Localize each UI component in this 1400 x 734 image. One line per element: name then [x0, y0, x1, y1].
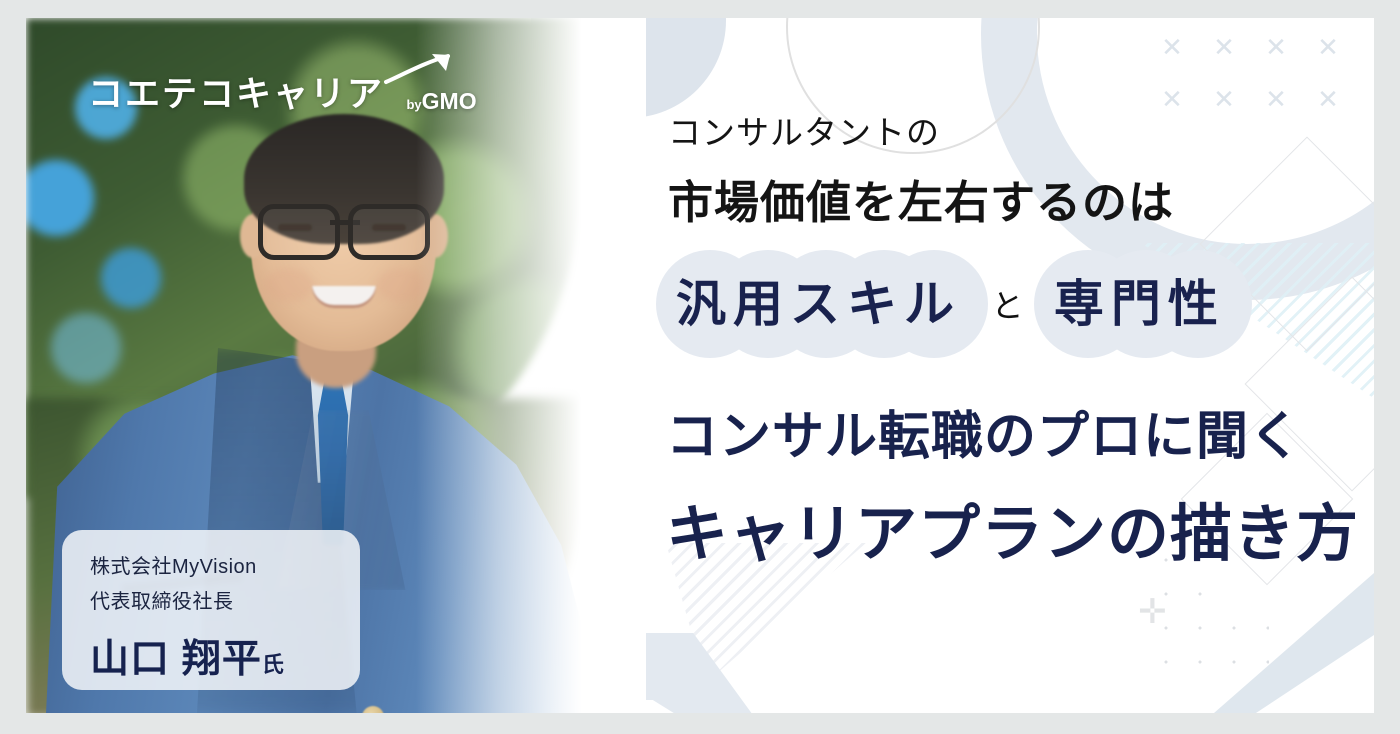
- highlight-expertise: 専門性: [1040, 250, 1239, 358]
- screenshot-root: ✕ ✕ ✕ ✕ ✕ ✕ ✕ ✕ ✛: [0, 0, 1400, 734]
- speaker-company: 株式会社MyVision: [90, 530, 360, 579]
- headline-conjunction: と: [991, 281, 1023, 327]
- highlight-generic-skill-label: 汎用スキル: [676, 276, 961, 332]
- photo-right-fade: [416, 18, 646, 713]
- brand-logo[interactable]: コエテコキャリア byGMO: [88, 66, 477, 117]
- speaker-role: 代表取締役社長: [90, 585, 360, 614]
- main-title-line1: コンサル転職のプロに聞く: [666, 394, 1359, 469]
- headline-highlight-row: 汎用スキル と 専門性: [662, 250, 1239, 358]
- headline-area: コンサルタントの 市場価値を左右するのは 汎用スキル と 専門性: [640, 18, 1374, 713]
- main-title-line2: キャリアプランの描き方: [666, 483, 1359, 573]
- speaker-glasses: [258, 204, 430, 250]
- speaker-name-card: 株式会社MyVision 代表取締役社長 山口 翔平氏: [62, 530, 360, 690]
- speaker-cheek-left: [264, 268, 314, 302]
- highlight-generic-skill: 汎用スキル: [662, 250, 975, 358]
- brand-logo-by-label: by: [406, 97, 421, 112]
- speaker-name-suffix: 氏: [262, 652, 285, 677]
- brand-logo-text: コエテコキャリア: [88, 66, 384, 117]
- speaker-name: 山口 翔平氏: [90, 628, 360, 684]
- speaker-name-text: 山口 翔平: [90, 638, 262, 681]
- highlight-expertise-label: 専門性: [1054, 276, 1225, 332]
- headline-lead: コンサルタントの: [668, 106, 940, 154]
- brand-logo-gmo: GMO: [422, 88, 477, 114]
- brand-logo-by: byGMO: [406, 88, 476, 115]
- hero-banner-card: ✕ ✕ ✕ ✕ ✕ ✕ ✕ ✕ ✛: [26, 18, 1374, 713]
- headline-emphasis: 市場価値を左右するのは: [668, 166, 1174, 231]
- main-title: コンサル転職のプロに聞く キャリアプランの描き方: [666, 394, 1359, 573]
- glasses-lens-left: [258, 204, 340, 260]
- arrow-up-right-icon: [384, 52, 454, 86]
